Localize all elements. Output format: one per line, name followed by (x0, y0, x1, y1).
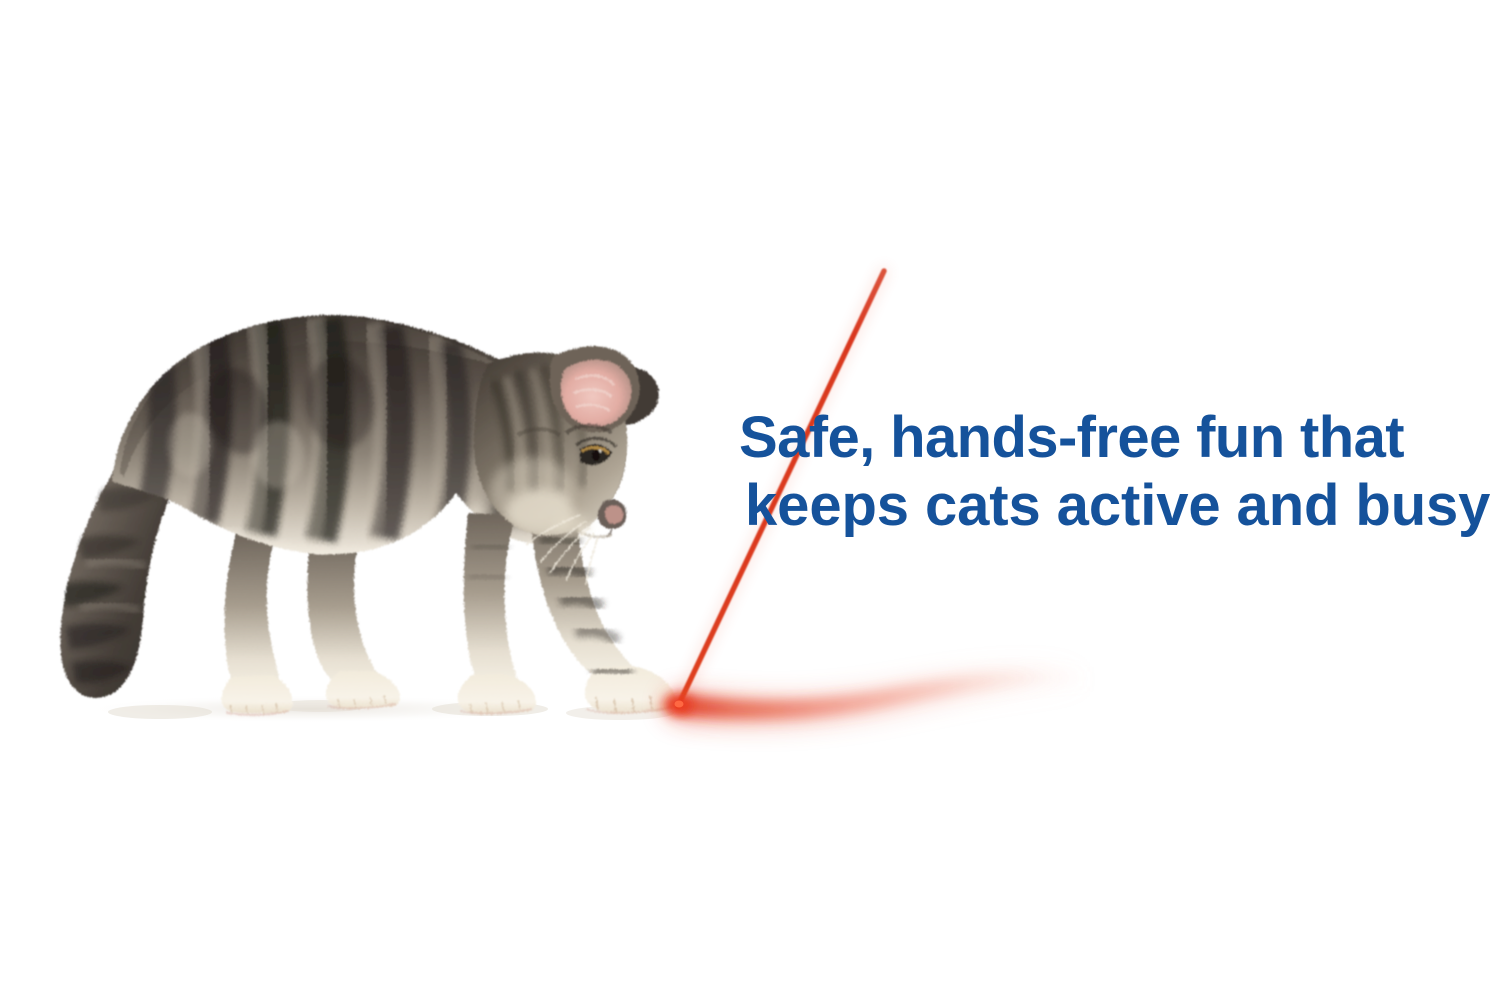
laser-trail (678, 676, 1092, 712)
paw-front-right (585, 666, 676, 714)
cat-hind-legs (224, 533, 392, 695)
paw-rear-right (326, 671, 401, 709)
paw-front-left (458, 674, 537, 714)
cat-nose (598, 499, 627, 537)
headline: Safe, hands-free fun that keeps cats act… (735, 404, 1483, 540)
cat-photo (20, 285, 680, 725)
paw-rear-left (221, 675, 292, 715)
headline-line-2: keeps cats active and busy (745, 472, 1483, 540)
headline-line-1: Safe, hands-free fun that (739, 404, 1483, 472)
promo-banner: Safe, hands-free fun that keeps cats act… (0, 0, 1500, 1000)
